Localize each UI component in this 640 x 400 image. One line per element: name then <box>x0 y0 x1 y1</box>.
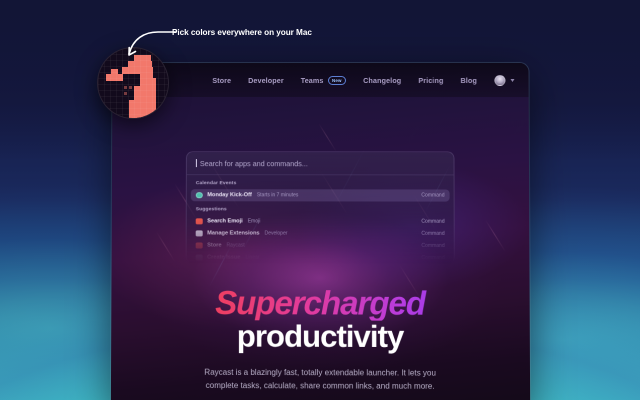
browser-window: cast Store Developer Teams New Changelog… <box>111 63 530 400</box>
section-label-suggestions: Suggestions <box>187 201 454 215</box>
emoji-icon <box>196 218 203 225</box>
nav-links: Store Developer Teams New Changelog Pric… <box>212 75 477 84</box>
row-subtitle: Raycast <box>227 243 245 249</box>
nav-link-teams-label: Teams <box>301 76 324 85</box>
section-label-calendar: Calendar Events <box>187 175 454 189</box>
nav-link-pricing[interactable]: Pricing <box>418 75 443 84</box>
calendar-event-icon <box>196 192 203 199</box>
palette-row-store[interactable]: Store Raycast Command <box>191 239 450 252</box>
row-subtitle: Linear <box>246 255 260 261</box>
nav-link-changelog[interactable]: Changelog <box>363 75 401 84</box>
nav-link-blog[interactable]: Blog <box>461 75 477 84</box>
row-action-label: Command <box>421 255 444 261</box>
nav-account-area[interactable] <box>494 74 514 85</box>
site-navigation-bar: cast Store Developer Teams New Changelog… <box>112 63 528 97</box>
row-title: Search Emoji <box>207 218 243 224</box>
row-action-label: Command <box>421 231 444 237</box>
palette-row-search-emoji[interactable]: Search Emoji Emoji Command <box>191 215 450 228</box>
row-action-label: Command <box>421 192 444 198</box>
command-palette: Search for apps and commands... Calendar… <box>186 151 455 264</box>
palette-search-row[interactable]: Search for apps and commands... <box>187 152 454 175</box>
nav-link-store[interactable]: Store <box>212 76 231 85</box>
light-streak <box>156 231 176 262</box>
nav-link-teams[interactable]: Teams New <box>301 75 346 84</box>
new-badge: New <box>328 75 347 84</box>
hero-section: Supercharged productivity Raycast is a b… <box>111 286 530 395</box>
row-action-label: Command <box>421 243 444 249</box>
nav-link-developer[interactable]: Developer <box>248 76 284 85</box>
issue-icon <box>196 254 203 261</box>
chevron-down-icon[interactable] <box>510 78 514 81</box>
hero-subtitle: Raycast is a blazingly fast, totally ext… <box>111 367 530 395</box>
user-avatar-icon[interactable] <box>494 74 505 85</box>
text-caret <box>196 159 197 167</box>
row-title: Monday Kick-Off <box>207 192 252 198</box>
headline-emphasis: Supercharged <box>111 286 529 321</box>
light-streak <box>318 123 337 152</box>
hero-subtitle-line-2: complete tasks, calculate, share common … <box>111 380 530 395</box>
row-subtitle: Developer <box>265 231 288 237</box>
search-input[interactable]: Search for apps and commands... <box>200 159 308 168</box>
row-title: Create Issue <box>207 255 240 261</box>
row-action-label: Command <box>421 219 444 225</box>
palette-row-create-issue[interactable]: Create Issue Linear Command <box>191 252 450 265</box>
headline-main: productivity <box>111 319 530 354</box>
extensions-icon <box>196 230 203 237</box>
palette-row-manage-extensions[interactable]: Manage Extensions Developer Command <box>191 227 450 240</box>
row-title: Store <box>207 242 221 248</box>
palette-row-monday-kickoff[interactable]: Monday Kick-Off Starts in 7 minutes Comm… <box>191 189 450 201</box>
row-subtitle: Starts in 7 minutes <box>257 192 298 198</box>
row-title: Manage Extensions <box>207 230 259 236</box>
light-streak <box>485 220 506 253</box>
annotation-label: Pick colors everywhere on your Mac <box>172 28 312 37</box>
store-icon <box>196 242 203 249</box>
row-subtitle: Emoji <box>248 218 261 224</box>
